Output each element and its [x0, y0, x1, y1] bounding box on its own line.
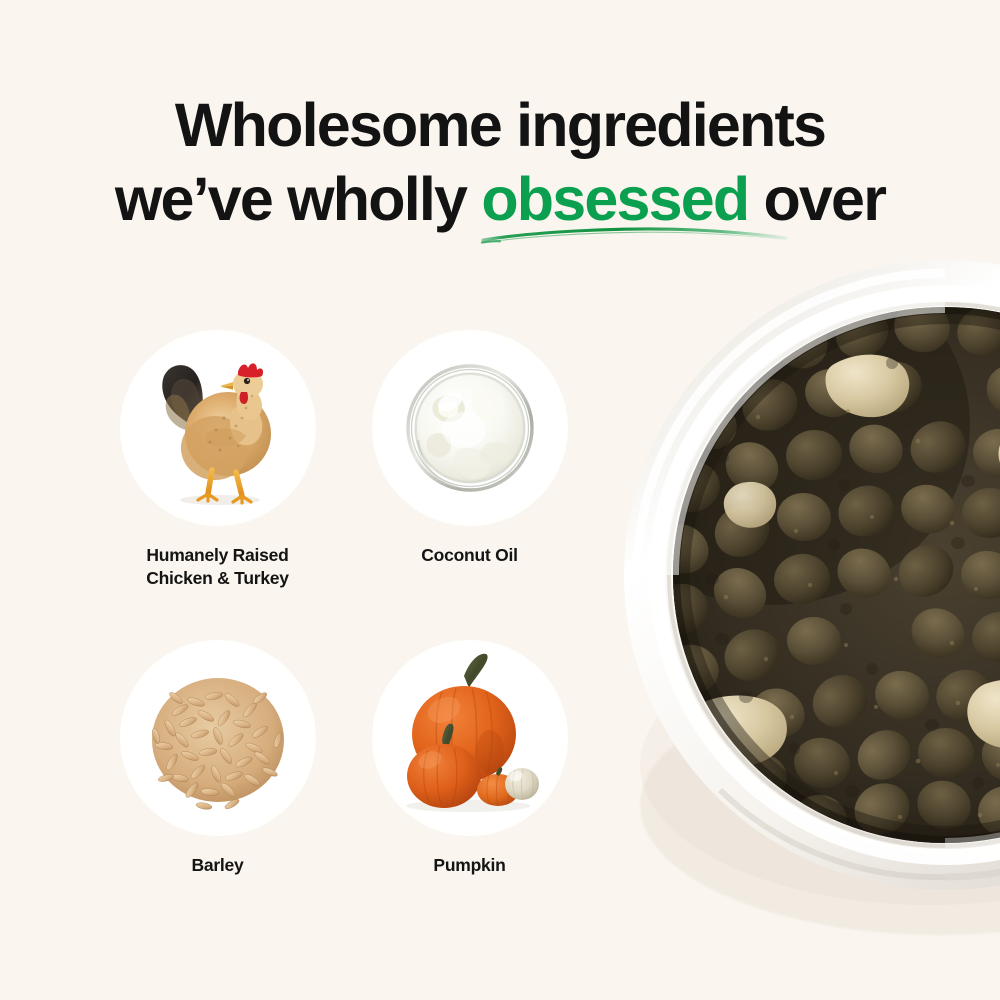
ingredient-item-chicken[interactable]: Humanely Raised Chicken & Turkey: [90, 330, 345, 590]
chicken-photo: [120, 330, 316, 526]
ingredient-label-coconut-oil: Coconut Oil: [342, 544, 597, 567]
barley-grains-photo: [120, 640, 316, 836]
page-title: Wholesome ingredients we’ve wholly obses…: [0, 88, 1000, 236]
ingredient-item-barley[interactable]: Barley: [90, 640, 345, 877]
coconut-oil-jar-photo: [372, 330, 568, 526]
ingredient-item-pumpkin[interactable]: Pumpkin: [342, 640, 597, 877]
dog-food-bowl-photo: [600, 245, 1000, 945]
headline-line-2-after: over: [748, 165, 885, 233]
headline-line-2-before: we’ve wholly: [115, 165, 481, 233]
promo-graphic: Wholesome ingredients we’ve wholly obses…: [0, 0, 1000, 1000]
headline-line-1: Wholesome ingredients: [0, 88, 1000, 162]
headline-highlight-word: obsessed: [481, 165, 748, 233]
ingredient-item-coconut-oil[interactable]: Coconut Oil: [342, 330, 597, 567]
ingredient-label-barley: Barley: [90, 854, 345, 877]
pumpkin-photo: [372, 640, 568, 836]
ingredient-label-chicken: Humanely Raised Chicken & Turkey: [90, 544, 345, 590]
headline-line-2: we’ve wholly obsessed over: [0, 162, 1000, 236]
ingredient-label-pumpkin: Pumpkin: [342, 854, 597, 877]
ingredient-grid: Humanely Raised Chicken & Turkey: [90, 330, 610, 910]
